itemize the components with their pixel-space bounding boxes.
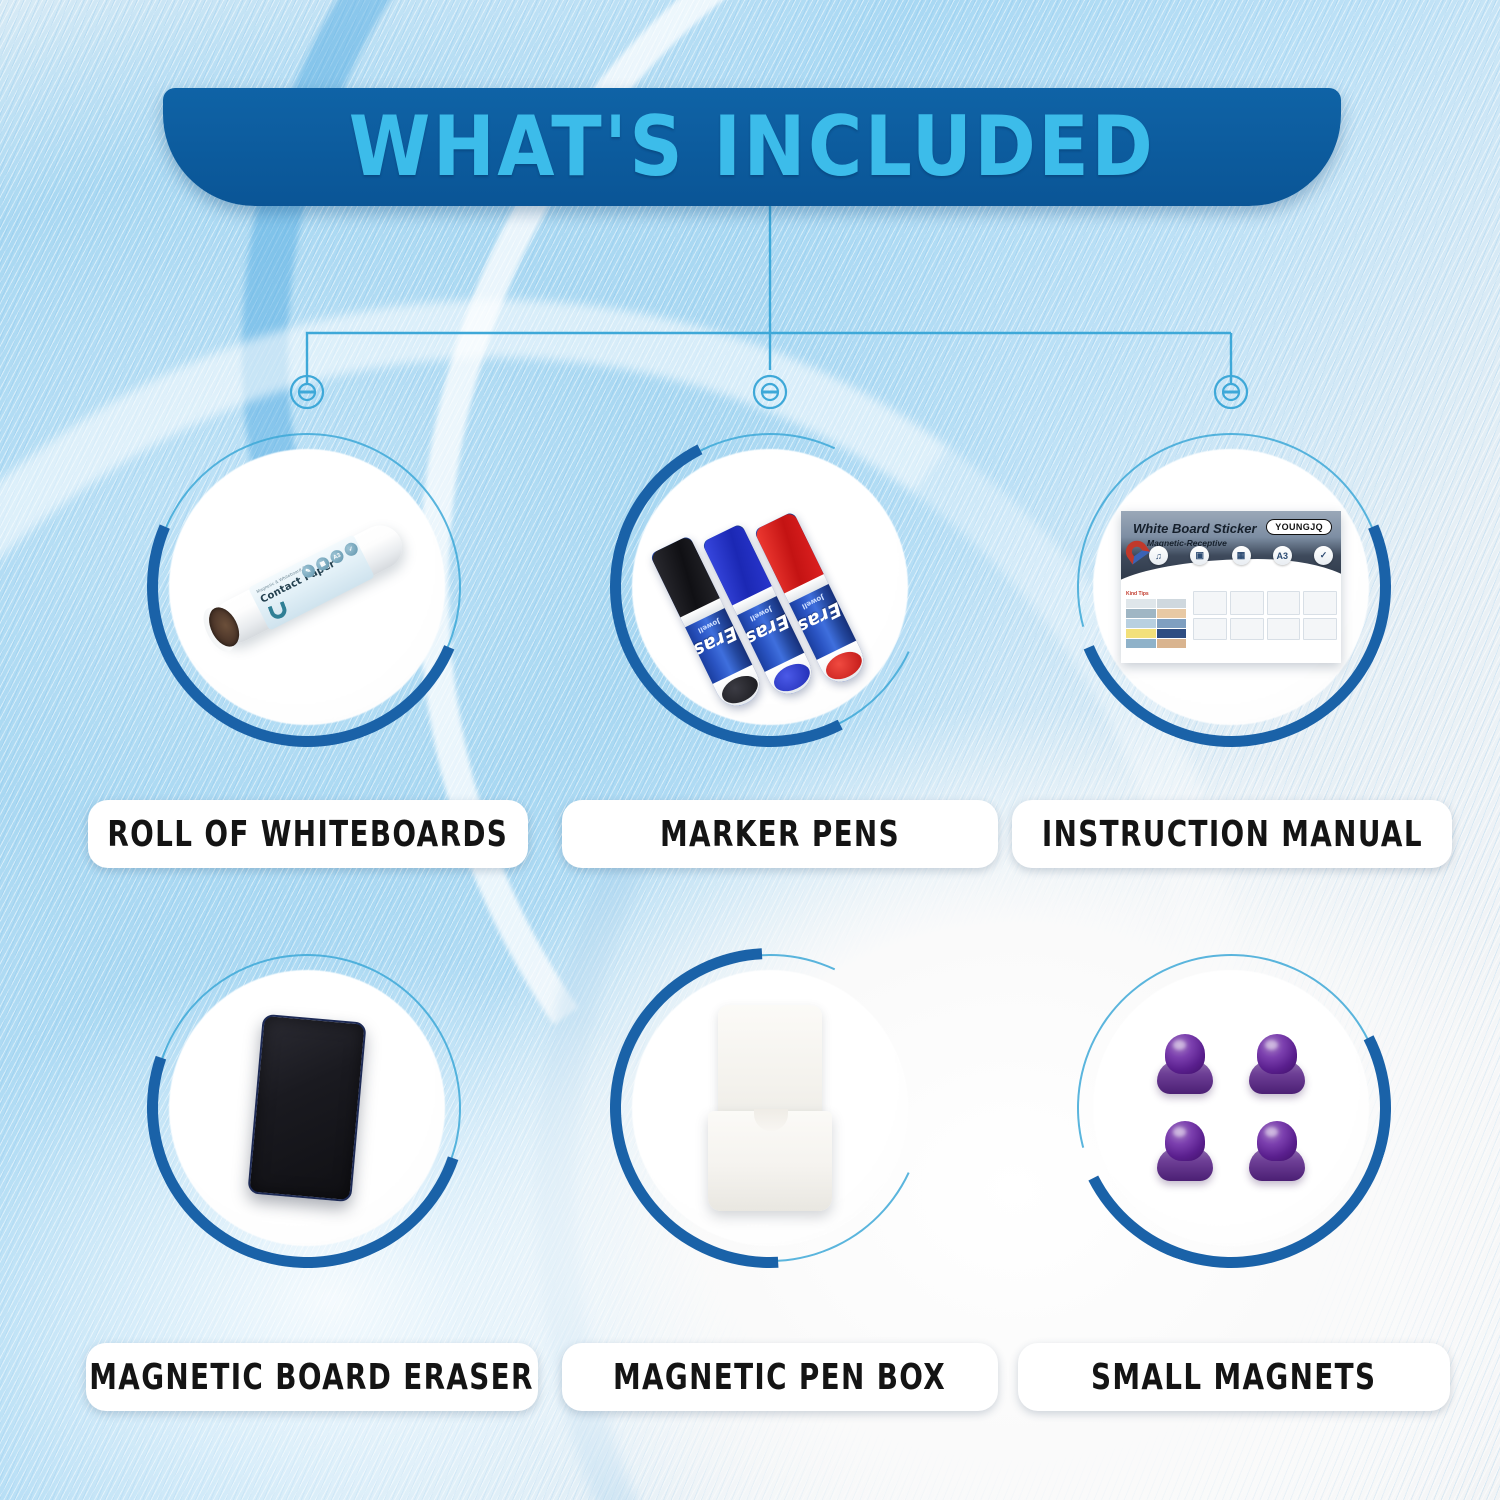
item-label-text-6: SMALL MAGNETS	[1091, 1356, 1376, 1397]
item-label-text-5: MAGNETIC PEN BOX	[613, 1356, 946, 1397]
pen-box-icon	[650, 988, 890, 1228]
item-circle-6	[1071, 948, 1391, 1268]
feature-icon-a3: A3	[328, 548, 345, 565]
item-label-pill-5: MAGNETIC PEN BOX	[562, 1343, 998, 1411]
manual-brand-logo: YOUNGJQ	[1266, 519, 1332, 535]
item-circle-1: Magnetic & Whiteboard & Contact Paper ✎ …	[147, 427, 467, 747]
board-eraser-icon	[187, 988, 427, 1228]
manual-icon-grid: ▦	[1232, 546, 1251, 565]
item-label-text-2: MARKER PENS	[660, 813, 900, 854]
small-magnets-icon	[1111, 988, 1351, 1228]
item-label-text-3: INSTRUCTION MANUAL	[1042, 813, 1423, 854]
item-label-text-1: ROLL OF WHITEBOARDS	[108, 813, 509, 854]
contact-paper-roll-icon: Magnetic & Whiteboard & Contact Paper ✎ …	[187, 467, 427, 707]
item-label-pill-6: SMALL MAGNETS	[1018, 1343, 1450, 1411]
item-label-pill-3: INSTRUCTION MANUAL	[1012, 800, 1452, 868]
items-grid: Magnetic & Whiteboard & Contact Paper ✎ …	[0, 0, 1500, 1500]
magnet-glyph-icon	[268, 601, 289, 621]
manual-tips-block: Kind Tips	[1126, 591, 1186, 648]
item-label-pill-4: MAGNETIC BOARD ERASER	[86, 1343, 538, 1411]
marker-pens-icon: Jowell Erasing Jowell Erasing	[650, 467, 890, 707]
item-label-pill-2: MARKER PENS	[562, 800, 998, 868]
manual-swatch-grid	[1126, 599, 1186, 648]
item-circle-5	[610, 948, 930, 1268]
instruction-manual-icon: White Board Sticker Magnetic-Receptive Y…	[1111, 467, 1351, 707]
header-banner: WHAT'S INCLUDED	[163, 88, 1341, 206]
manual-icon-a3: A3	[1273, 546, 1292, 565]
item-circle-2: Jowell Erasing Jowell Erasing	[610, 427, 930, 747]
manual-title-text: White Board Sticker	[1133, 521, 1257, 536]
feature-icon-check: ✓	[342, 541, 359, 558]
manual-icon-magnet: ♫	[1149, 546, 1168, 565]
infographic-page: WHAT'S INCLUDED Magnetic & Whiteboard & …	[0, 0, 1500, 1500]
manual-icon-check: ✓	[1314, 546, 1333, 565]
item-circle-4	[147, 948, 467, 1268]
page-title: WHAT'S INCLUDED	[349, 99, 1156, 195]
roll-feature-icons: ✎ ▦ A3 ✓	[300, 541, 360, 580]
item-label-pill-1: ROLL OF WHITEBOARDS	[88, 800, 528, 868]
item-label-text-4: MAGNETIC BOARD ERASER	[90, 1356, 535, 1397]
manual-steps-grid	[1193, 591, 1337, 640]
manual-icon-sticker: ▣	[1190, 546, 1209, 565]
manual-tips-heading: Kind Tips	[1126, 591, 1186, 597]
item-circle-3: White Board Sticker Magnetic-Receptive Y…	[1071, 427, 1391, 747]
